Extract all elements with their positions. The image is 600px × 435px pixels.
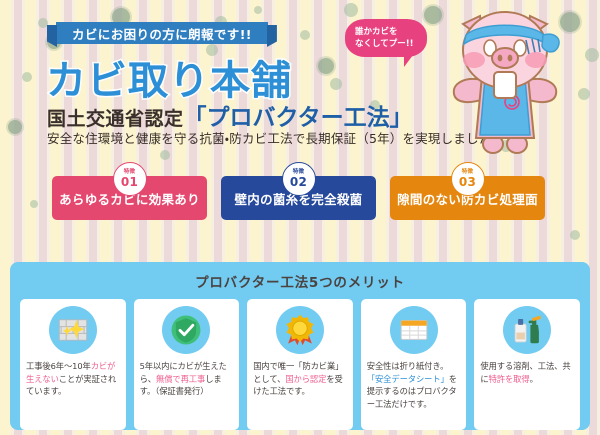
feature-badge-01[interactable]: 特徴01あらゆるカビに効果あり bbox=[52, 176, 207, 220]
data-sheet-icon bbox=[390, 306, 438, 354]
feature-number-badge: 特徴03 bbox=[451, 162, 485, 196]
merit-plain-text: 。 bbox=[530, 374, 538, 384]
merit-card-text: 5年以内にカビが生えたら、無償で再工事します。（保証書発行） bbox=[140, 360, 234, 398]
merit-plain-text: 工事後6年〜10年 bbox=[26, 361, 91, 371]
merit-highlight-text: 特許を取得 bbox=[489, 374, 530, 384]
mold-spot bbox=[318, 58, 334, 74]
merit-card-text: 工事後6年〜10年カビが生えないことが実証されています。 bbox=[26, 360, 120, 398]
merit-card-text: 安全性は折り紙付き。「安全データシート」を提示するのはプロバクター工法だけです。 bbox=[367, 360, 461, 410]
merit-highlight-text: 国から認定 bbox=[285, 374, 326, 384]
announcement-ribbon: カビにお困りの方に朗報です!! bbox=[56, 22, 268, 44]
subtitle: 国土交通省認定 「プロバクター工法」 bbox=[47, 98, 413, 132]
merit-card-text: 国内で唯一「防カビ業」として、国から認定を受けた工法です。 bbox=[253, 360, 347, 398]
merit-highlight-text: 「安全データシート」 bbox=[367, 374, 449, 384]
merit-card[interactable]: 工事後6年〜10年カビが生えないことが実証されています。 bbox=[20, 299, 126, 430]
mold-spot bbox=[22, 72, 32, 82]
merit-cards: 工事後6年〜10年カビが生えないことが実証されています。 5年以内にカビが生えた… bbox=[20, 299, 580, 430]
merit-card[interactable]: 国内で唯一「防カビ業」として、国から認定を受けた工法です。 bbox=[247, 299, 353, 430]
merit-card[interactable]: 5年以内にカビが生えたら、無償で再工事します。（保証書発行） bbox=[134, 299, 240, 430]
mold-spot bbox=[254, 6, 262, 14]
merit-card[interactable]: 使用する溶剤、工法、共に特許を取得。 bbox=[474, 299, 580, 430]
mold-spot bbox=[330, 78, 342, 90]
mold-spot bbox=[344, 3, 358, 17]
mold-spot bbox=[300, 30, 310, 40]
feature-badges: 特徴01あらゆるカビに効果あり特徴02壁内の菌糸を完全殺菌特徴03隙間のない防カ… bbox=[52, 176, 545, 220]
mold-spot bbox=[570, 230, 580, 240]
brick-wall-sparkle-icon bbox=[49, 306, 97, 354]
mold-spot bbox=[8, 120, 22, 134]
feature-badge-02[interactable]: 特徴02壁内の菌糸を完全殺菌 bbox=[221, 176, 376, 220]
mold-spot bbox=[30, 200, 38, 208]
announcement-ribbon-text: カビにお困りの方に朗報です!! bbox=[72, 24, 252, 43]
mold-spot bbox=[38, 18, 48, 28]
merit-highlight-text: 無償で再工事 bbox=[156, 374, 205, 384]
merit-card-text: 使用する溶剤、工法、共に特許を取得。 bbox=[480, 360, 574, 385]
mold-spot bbox=[160, 150, 170, 160]
subtitle-certification: 国土交通省認定 bbox=[47, 104, 184, 131]
mold-spot bbox=[585, 48, 599, 62]
speech-bubble-line-2: なくしてプー!! bbox=[355, 38, 427, 50]
award-medal-icon bbox=[276, 306, 324, 354]
feature-badge-number: 02 bbox=[290, 176, 307, 188]
merits-panel: プロバクター工法5つのメリット 工事後6年〜10年カビが生えないことが実証されて… bbox=[10, 262, 590, 430]
shield-check-icon bbox=[162, 306, 210, 354]
mascot-speech-bubble: 誰かカビを なくしてプー!! bbox=[345, 19, 427, 57]
feature-number-badge: 特徴01 bbox=[113, 162, 147, 196]
spray-bottle-icon bbox=[503, 306, 551, 354]
subtitle-method-name: 「プロバクター工法」 bbox=[184, 98, 413, 132]
pig-mascot-icon bbox=[430, 2, 580, 162]
merit-card[interactable]: 安全性は折り紙付き。「安全データシート」を提示するのはプロバクター工法だけです。 bbox=[361, 299, 467, 430]
merit-plain-text: 安全性は折り紙付き。 bbox=[367, 361, 449, 371]
feature-number-badge: 特徴02 bbox=[282, 162, 316, 196]
feature-badge-number: 01 bbox=[121, 176, 138, 188]
merits-title: プロバクター工法5つのメリット bbox=[20, 271, 580, 291]
feature-badge-03[interactable]: 特徴03隙間のない防カビ処理面 bbox=[390, 176, 545, 220]
speech-bubble-line-1: 誰かカビを bbox=[355, 26, 427, 38]
feature-badge-number: 03 bbox=[459, 176, 476, 188]
landing-page: カビにお困りの方に朗報です!! カビ取り本舗 国土交通省認定 「プロバクター工法… bbox=[0, 0, 600, 435]
